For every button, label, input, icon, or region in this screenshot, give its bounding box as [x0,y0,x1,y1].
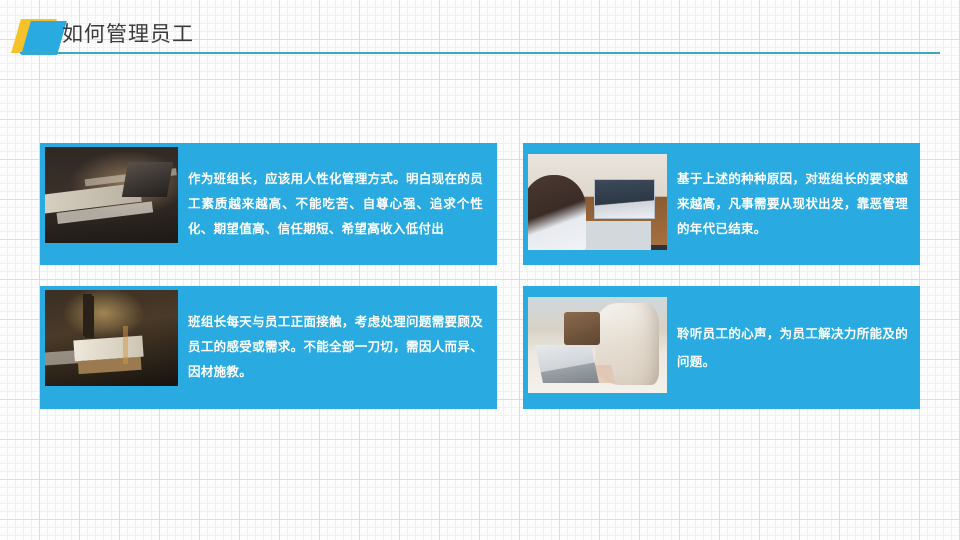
person-on-bed-laptop-photo [528,297,667,393]
card-3-text: 班组长每天与员工正面接触，考虑处理问题需要顾及员工的感受或需求。不能全部一刀切，… [188,310,483,385]
card-1-thumbnail [45,147,178,243]
slide-canvas: 如何管理员工 作为班组长，应该用人性化管理方式。明白现在的员工素质越来越高、不能… [0,0,960,540]
card-3-body: 班组长每天与员工正面接触，考虑处理问题需要顾及员工的感受或需求。不能全部一刀切，… [188,286,483,409]
content-card-4[interactable]: 聆听员工的心声，为员工解决力所能及的问题。 [523,286,920,409]
header-divider [20,52,940,54]
content-card-3[interactable]: 班组长每天与员工正面接触，考虑处理问题需要顾及员工的感受或需求。不能全部一刀切，… [40,286,497,409]
page-title: 如何管理员工 [62,20,194,50]
card-4-thumbnail [528,297,667,393]
card-2-text: 基于上述的种种原因，对班组长的要求越来越高，凡事需要从现状出发，靠恶管理的年代已… [677,167,908,242]
content-card-2[interactable]: 基于上述的种种原因，对班组长的要求越来越高，凡事需要从现状出发，靠恶管理的年代已… [523,143,920,265]
card-3-thumbnail [45,290,178,386]
desk-lamp-books-photo [45,290,178,386]
card-2-thumbnail [528,154,667,250]
office-desk-papers-photo [45,147,178,243]
card-1-text: 作为班组长，应该用人性化管理方式。明白现在的员工素质越来越高、不能吃苦、自尊心强… [188,167,483,242]
card-4-body: 聆听员工的心声，为员工解决力所能及的问题。 [677,286,908,409]
woman-at-laptop-photo [528,154,667,250]
slide-header: 如何管理员工 [0,0,960,70]
card-2-body: 基于上述的种种原因，对班组长的要求越来越高，凡事需要从现状出发，靠恶管理的年代已… [677,143,908,265]
card-4-text: 聆听员工的心声，为员工解决力所能及的问题。 [677,320,908,376]
card-grid: 作为班组长，应该用人性化管理方式。明白现在的员工素质越来越高、不能吃苦、自尊心强… [40,143,920,409]
headboard-shape [564,312,600,345]
content-card-1[interactable]: 作为班组长，应该用人性化管理方式。明白现在的员工素质越来越高、不能吃苦、自尊心强… [40,143,497,265]
card-1-body: 作为班组长，应该用人性化管理方式。明白现在的员工素质越来越高、不能吃苦、自尊心强… [188,143,483,265]
